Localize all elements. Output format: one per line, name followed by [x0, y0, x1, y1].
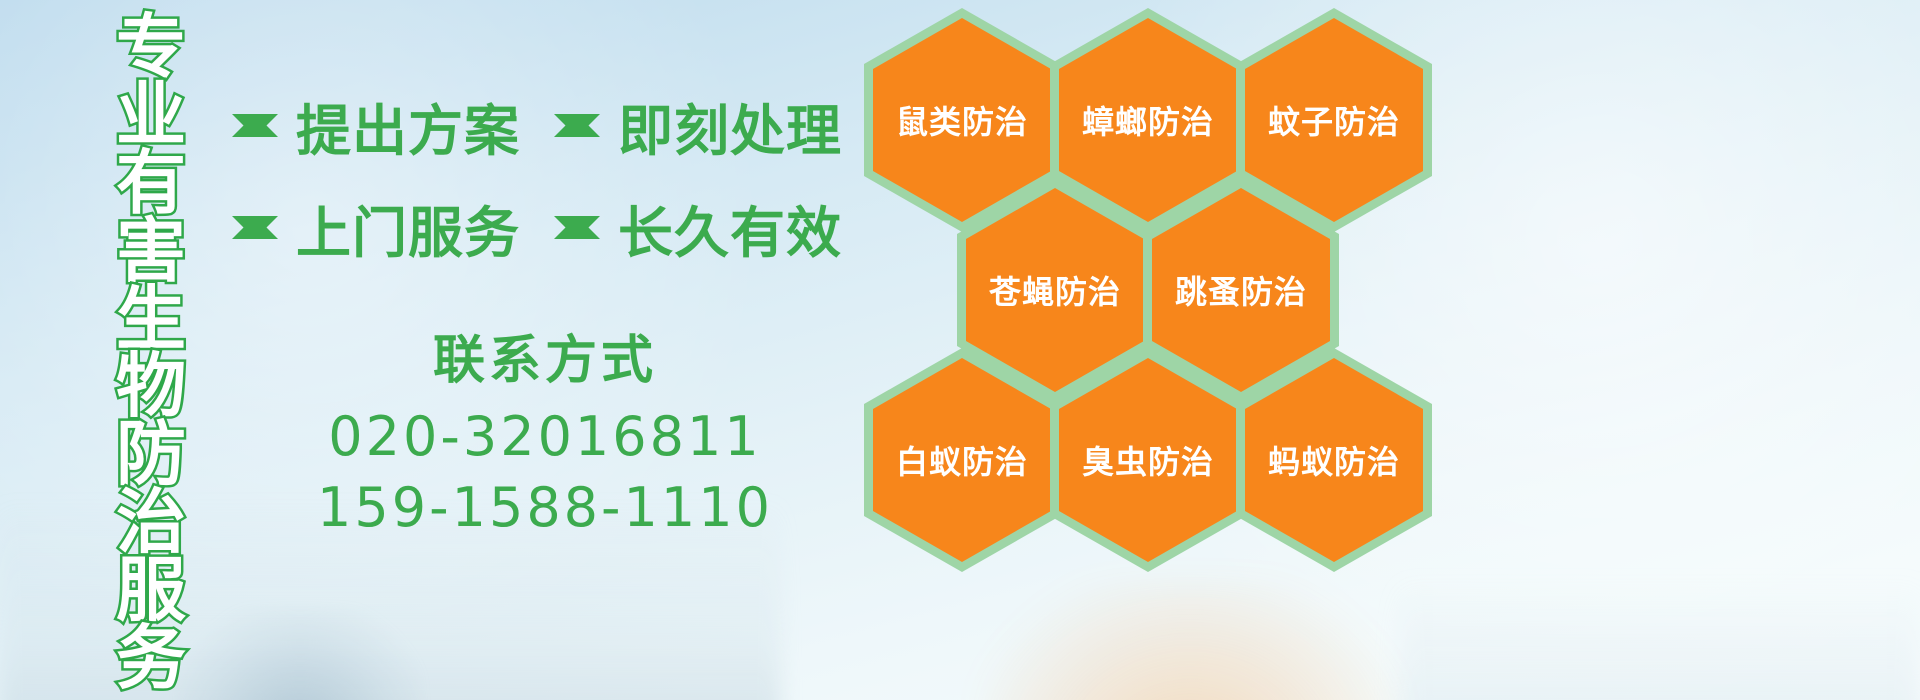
hex-inner: 蚂蚁防治 [1245, 358, 1423, 562]
service-label: 蚂蚁防治 [1268, 437, 1400, 483]
diamond-icon [554, 216, 600, 262]
vertical-headline-char: 生 [116, 286, 186, 354]
phone-mobile[interactable]: 159-1588-1110 [230, 472, 860, 543]
feature-label: 即刻处理 [618, 86, 842, 166]
background-orange-glow [980, 580, 1400, 700]
diamond-icon [232, 114, 278, 160]
contact-block: 联系方式 020-32016811 159-1588-1110 [230, 318, 860, 544]
feature-item-immediate-handling: 即刻处理 [554, 86, 842, 166]
feature-row: 上门服务 长久有效 [232, 188, 862, 268]
hex-inner: 跳蚤防治 [1152, 188, 1330, 392]
vertical-headline: 专 业 有 害 生 物 防 治 服 务 [108, 14, 194, 693]
feature-item-onsite-service: 上门服务 [232, 188, 520, 268]
feature-label: 提出方案 [296, 86, 520, 166]
vertical-headline-char: 物 [116, 353, 186, 421]
vertical-headline-char: 专 [116, 14, 186, 82]
vertical-headline-char: 防 [116, 421, 186, 489]
contact-title: 联系方式 [230, 318, 860, 393]
vertical-headline-char: 害 [116, 218, 186, 286]
service-honeycomb: 鼠类防治 蟑螂防治 蚊子防治 苍蝇防治 跳蚤防治 白蚁防治 [858, 0, 1458, 572]
promotional-banner: 专 业 有 害 生 物 防 治 服 务 提出方案 即刻处理 上门服务 [0, 0, 1920, 700]
hex-inner: 蟑螂防治 [1059, 18, 1237, 222]
service-label: 蚊子防治 [1268, 97, 1400, 143]
feature-item-long-lasting: 长久有效 [554, 188, 842, 268]
feature-label: 长久有效 [618, 188, 842, 268]
service-label: 白蚁防治 [896, 437, 1028, 483]
phone-landline[interactable]: 020-32016811 [230, 401, 860, 472]
service-label: 跳蚤防治 [1175, 267, 1307, 313]
hex-inner: 白蚁防治 [873, 358, 1051, 562]
vertical-headline-char: 服 [116, 557, 186, 625]
diamond-icon [232, 216, 278, 262]
service-label: 蟑螂防治 [1082, 97, 1214, 143]
hex-inner: 蚊子防治 [1245, 18, 1423, 222]
feature-row: 提出方案 即刻处理 [232, 86, 862, 166]
background-blur-spot [180, 610, 420, 700]
hex-inner: 苍蝇防治 [966, 188, 1144, 392]
diamond-icon [554, 114, 600, 160]
vertical-headline-char: 业 [116, 82, 186, 150]
service-label: 臭虫防治 [1082, 437, 1214, 483]
feature-label: 上门服务 [296, 188, 520, 268]
service-label: 苍蝇防治 [989, 267, 1121, 313]
hex-inner: 鼠类防治 [873, 18, 1051, 222]
hex-inner: 臭虫防治 [1059, 358, 1237, 562]
vertical-headline-char: 治 [116, 489, 186, 557]
feature-list: 提出方案 即刻处理 上门服务 长久有效 [232, 86, 862, 290]
vertical-headline-char: 有 [116, 150, 186, 218]
background-blur-bottom-right [1400, 580, 1920, 700]
vertical-headline-char: 务 [116, 625, 186, 693]
service-label: 鼠类防治 [896, 97, 1028, 143]
feature-item-propose-plan: 提出方案 [232, 86, 520, 166]
